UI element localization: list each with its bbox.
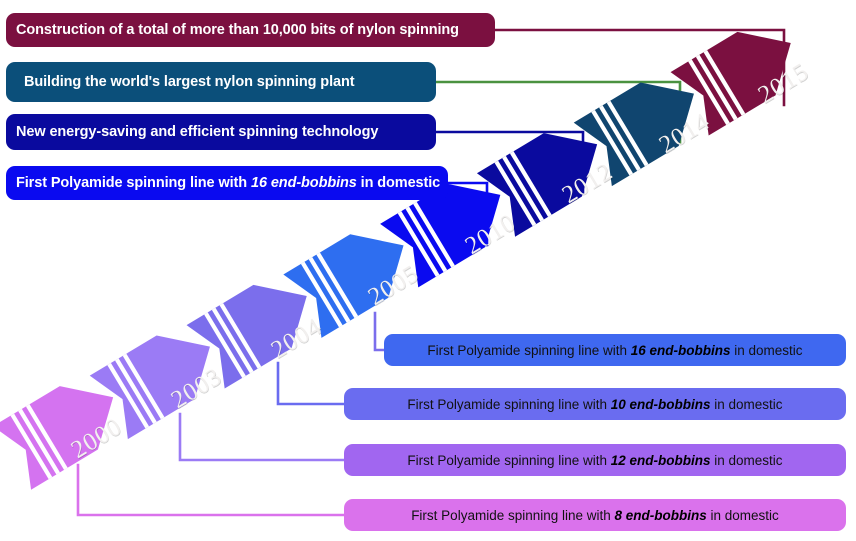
connector-line [278, 363, 344, 404]
callout-12-end-bobbins[interactable]: First Polyamide spinning line with 12 en… [344, 444, 846, 476]
callout-8-end-bobbins[interactable]: First Polyamide spinning line with 8 end… [344, 499, 846, 531]
callout-text: First Polyamide spinning line with 8 end… [411, 508, 779, 523]
connector-line [375, 313, 384, 350]
callout-text: First Polyamide spinning line with 10 en… [407, 397, 782, 412]
callout-10-end-bobbins[interactable]: First Polyamide spinning line with 10 en… [344, 388, 846, 420]
callout-16-end-bobbins-top[interactable]: First Polyamide spinning line with 16 en… [6, 166, 448, 200]
connector-line [180, 414, 344, 460]
callout-text: First Polyamide spinning line with 16 en… [16, 175, 440, 191]
callout-energy-saving[interactable]: New energy-saving and efficient spinning… [6, 114, 436, 150]
callout-text: First Polyamide spinning line with 16 en… [427, 343, 802, 358]
callout-text: First Polyamide spinning line with 12 en… [407, 453, 782, 468]
connector-line [78, 465, 344, 515]
callout-largest-plant[interactable]: Building the world's largest nylon spinn… [6, 62, 436, 102]
callout-text: Construction of a total of more than 10,… [16, 22, 459, 38]
timeline-diagram: 20002003200420052010201220142015 Constru… [0, 0, 856, 541]
callout-text: New energy-saving and efficient spinning… [16, 124, 378, 140]
callout-text: Building the world's largest nylon spinn… [24, 74, 354, 90]
callout-construction[interactable]: Construction of a total of more than 10,… [6, 13, 495, 47]
callout-16-end-bobbins-bottom[interactable]: First Polyamide spinning line with 16 en… [384, 334, 846, 366]
